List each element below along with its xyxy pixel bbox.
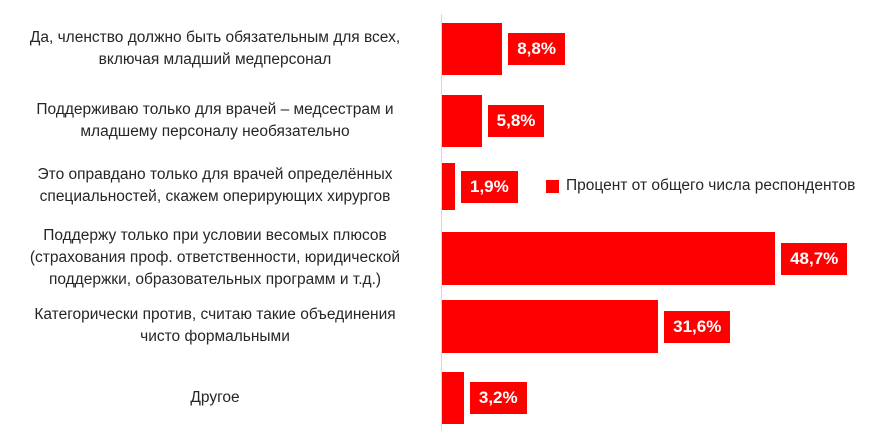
bar-value-label: 3,2%	[470, 382, 527, 414]
bar-value-label: 31,6%	[664, 311, 730, 343]
bar-segment[interactable]	[442, 232, 775, 285]
bar-value-label: 1,9%	[461, 171, 518, 203]
category-label-0: Да, членство должно быть обязательным дл…	[5, 27, 425, 71]
legend-label: Процент от общего числа респондентов	[566, 177, 855, 195]
bar-segment[interactable]	[442, 163, 455, 210]
bar-segment[interactable]	[442, 300, 658, 353]
bar-value-label: 5,8%	[488, 105, 545, 137]
category-label-1: Поддерживаю только для врачей – медсестр…	[5, 99, 425, 143]
legend[interactable]: Процент от общего числа респондентов	[546, 177, 855, 195]
category-label-4: Категорически против, считаю такие объед…	[5, 304, 425, 348]
legend-swatch-icon	[546, 180, 559, 193]
bar-segment[interactable]	[442, 372, 464, 424]
bar-chart: Да, членство должно быть обязательным дл…	[0, 0, 882, 435]
bar-segment[interactable]	[442, 95, 482, 147]
category-label-2: Это оправдано только для врачей определё…	[5, 164, 425, 208]
bar-segment[interactable]	[442, 23, 502, 75]
bar-value-label: 8,8%	[508, 33, 565, 65]
category-label-3: Поддержу только при условии весомых плюс…	[5, 225, 425, 291]
category-label-5: Другое	[5, 387, 425, 409]
category-axis-line	[441, 14, 442, 430]
bar-value-label: 48,7%	[781, 243, 847, 275]
